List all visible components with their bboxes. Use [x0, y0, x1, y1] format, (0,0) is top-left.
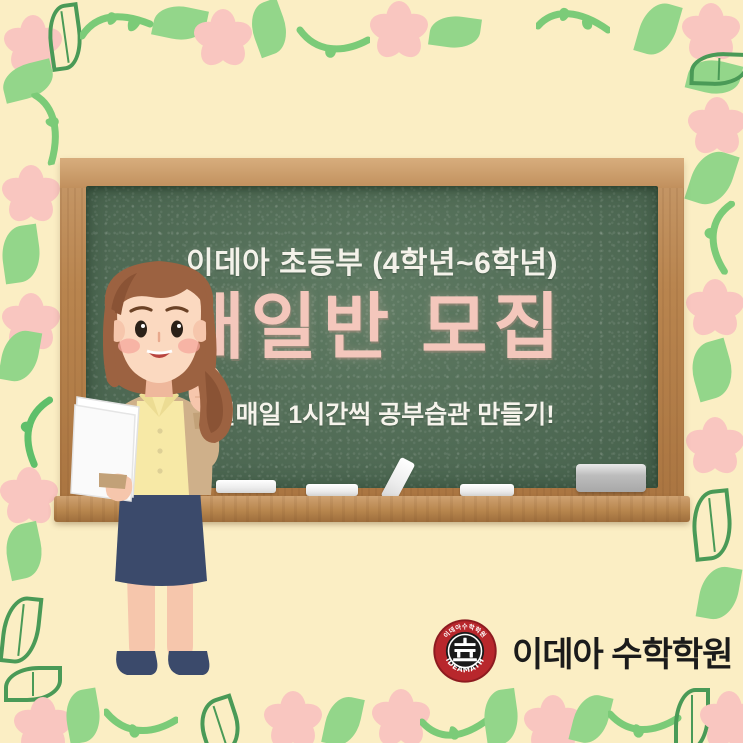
pink-flower-icon [684, 6, 738, 60]
vine-sprig-icon [80, 6, 154, 52]
green-leaf-icon [0, 58, 57, 104]
pink-flower-icon [374, 692, 428, 743]
green-leaf-icon [151, 1, 209, 45]
outlined-leaf-icon [0, 594, 43, 666]
pink-flower-icon [688, 282, 742, 336]
pink-flower-icon [372, 4, 426, 58]
vine-sprig-icon [536, 4, 610, 50]
green-leaf-icon [244, 0, 294, 58]
pink-flower-icon [266, 694, 320, 743]
green-leaf-icon [685, 338, 739, 403]
green-leaf-icon [685, 54, 743, 100]
green-leaf-icon [0, 224, 44, 285]
green-leaf-icon [633, 0, 682, 60]
pink-flower-icon [2, 470, 56, 524]
promo-poster: 이데아 초등부 (4학년~6학년) 매일반 모집 매일매일 1시간씩 공부습관 … [0, 0, 743, 743]
green-leaf-icon [696, 563, 743, 623]
vine-sprig-icon [608, 700, 682, 743]
chalk-piece-2 [306, 484, 358, 496]
pink-flower-icon [688, 420, 742, 474]
vine-sprig-icon [694, 198, 743, 276]
pink-flower-icon [6, 18, 60, 72]
vine-sprig-icon [420, 702, 494, 743]
outlined-leaf-icon [44, 2, 87, 72]
outlined-leaf-icon [688, 488, 735, 562]
green-leaf-icon [568, 691, 613, 743]
green-leaf-icon [480, 688, 521, 743]
green-leaf-icon [321, 693, 365, 743]
pink-flower-icon [196, 12, 250, 66]
outlined-leaf-icon [689, 51, 743, 87]
green-leaf-icon [1, 521, 47, 581]
chalk-piece-4 [460, 484, 514, 496]
pink-flower-icon [690, 100, 743, 154]
ideamath-seal-icon: 이데아수학학원 IDEAMATH [432, 618, 498, 684]
outlined-leaf-icon [4, 666, 62, 702]
pink-flower-icon [526, 698, 580, 743]
teacher-illustration [55, 245, 270, 715]
board-eraser [576, 464, 646, 492]
green-leaf-icon [428, 13, 482, 52]
pink-flower-icon [702, 694, 743, 743]
green-leaf-icon [684, 145, 739, 211]
pink-flower-icon [4, 296, 58, 350]
brand-name: 이데아 수학학원 [512, 627, 732, 676]
vine-sprig-icon [296, 18, 370, 64]
outlined-leaf-icon [674, 688, 710, 743]
green-leaf-icon [0, 327, 42, 384]
pink-flower-icon [4, 168, 58, 222]
brand-logo: 이데아수학학원 IDEAMATH 이데아 수학학원 [432, 618, 732, 684]
